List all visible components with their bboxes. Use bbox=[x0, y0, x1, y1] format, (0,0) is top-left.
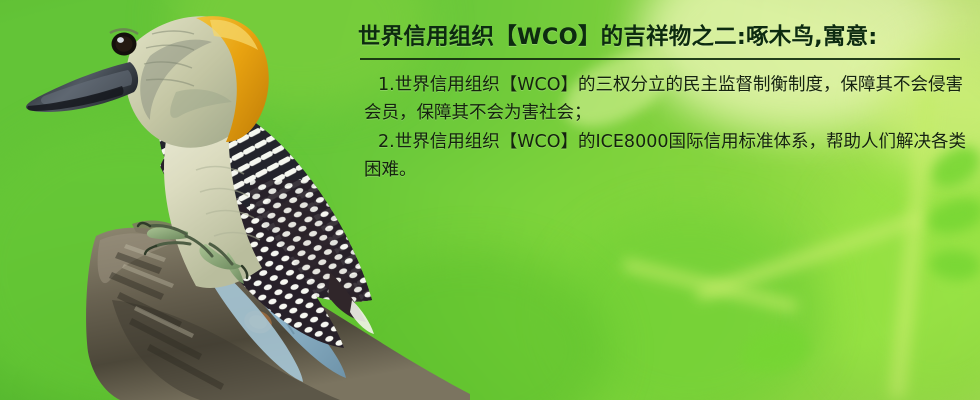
text-content: 世界信用组织【WCO】的吉祥物之二:啄木鸟,寓意: 1.世界信用组织【WCO】的… bbox=[352, 22, 970, 184]
mascot-meaning-list: 1.世界信用组织【WCO】的三权分立的民主监督制衡制度，保障其不会侵害会员，保障… bbox=[352, 71, 970, 184]
wco-mascot-banner: 世界信用组织【WCO】的吉祥物之二:啄木鸟,寓意: 1.世界信用组织【WCO】的… bbox=[0, 0, 980, 400]
title-underline bbox=[360, 58, 960, 60]
list-item: 1.世界信用组织【WCO】的三权分立的民主监督制衡制度，保障其不会侵害会员，保障… bbox=[364, 71, 970, 127]
list-item: 2.世界信用组织【WCO】的ICE8000国际信用标准体系，帮助人们解决各类困难… bbox=[364, 128, 970, 184]
page-title: 世界信用组织【WCO】的吉祥物之二:啄木鸟,寓意: bbox=[352, 22, 970, 52]
